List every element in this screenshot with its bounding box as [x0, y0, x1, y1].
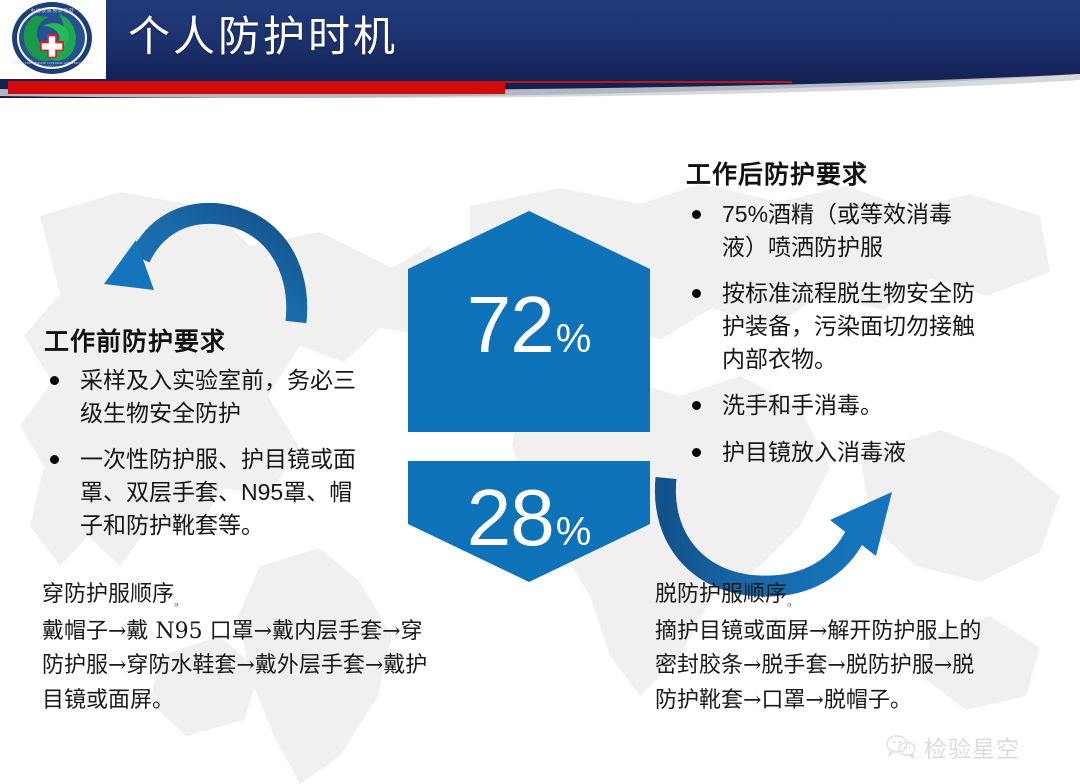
- bullet-text: 一次性防护服、护目镜或面罩、双层手套、N95罩、帽子和防护靴套等。: [80, 446, 356, 537]
- bullet-text: 采样及入实验室前，务必三级生物安全防护: [80, 367, 356, 426]
- percent-bottom-symbol: %: [556, 512, 592, 552]
- bullet-dot-icon: [692, 289, 701, 298]
- list-item: 75%酒精（或等效消毒液）喷洒防护服: [686, 198, 976, 263]
- header-red-rule: [505, 81, 792, 83]
- slide-root: 1934 中 国 疾 病 预 防 控 制 CENTER FOR DISEASE …: [0, 0, 1080, 784]
- bullet-dot-icon: [692, 401, 701, 410]
- left-sequence-title-text: 穿防护服顺序: [42, 582, 174, 607]
- right-sequence-block: 脱防护服顺序ₔ 摘护目镜或面屏→解开防护服上的密封胶条→脱手套→脱防护服→脱防护…: [655, 578, 995, 718]
- curved-arrow-down-left-icon: [96, 196, 326, 324]
- percent-bottom: 28 %: [408, 478, 650, 558]
- left-sequence-title-mark: ₔ: [174, 595, 179, 609]
- bullet-dot-icon: [50, 376, 59, 385]
- list-item: 一次性防护服、护目镜或面罩、双层手套、N95罩、帽子和防护靴套等。: [44, 443, 374, 541]
- right-sequence-title-text: 脱防护服顺序: [655, 582, 787, 607]
- slide-header: 1934 中 国 疾 病 预 防 控 制 CENTER FOR DISEASE …: [0, 0, 1080, 108]
- percent-bottom-value: 28: [467, 478, 554, 558]
- list-item: 护目镜放入消毒液: [686, 436, 976, 469]
- right-sequence-body: 摘护目镜或面屏→解开防护服上的密封胶条→脱手套→脱防护服→脱防护靴套→口罩→脱帽…: [655, 615, 995, 717]
- left-sequence-body: 戴帽子→戴 N95 口罩→戴内层手套→穿防护服→穿防水鞋套→戴外层手套→戴护目镜…: [42, 615, 442, 717]
- bullet-text: 按标准流程脱生物安全防护装备，污染面切勿接触内部衣物。: [722, 280, 975, 371]
- bullet-dot-icon: [692, 448, 701, 457]
- list-item: 洗手和手消毒。: [686, 389, 976, 422]
- watermark: 检验星空: [886, 730, 1020, 764]
- bullet-text: 洗手和手消毒。: [722, 392, 883, 418]
- list-item: 按标准流程脱生物安全防护装备，污染面切勿接触内部衣物。: [686, 277, 976, 375]
- left-sequence-block: 穿防护服顺序ₔ 戴帽子→戴 N95 口罩→戴内层手套→穿防护服→穿防水鞋套→戴外…: [42, 578, 442, 718]
- right-sequence-title: 脱防护服顺序ₔ: [655, 578, 995, 611]
- bullet-text: 护目镜放入消毒液: [722, 439, 906, 465]
- wechat-icon: [886, 735, 916, 759]
- svg-text:中 国 疾 病 预 防 控 制: 中 国 疾 病 预 防 控 制: [31, 7, 74, 14]
- institution-emblem-icon: 1934 中 国 疾 病 预 防 控 制 CENTER FOR DISEASE …: [7, 2, 97, 78]
- right-heading: 工作后防护要求: [686, 155, 868, 191]
- logo-plate: 1934 中 国 疾 病 预 防 控 制 CENTER FOR DISEASE …: [0, 0, 106, 79]
- left-bullet-list: 采样及入实验室前，务必三级生物安全防护 一次性防护服、护目镜或面罩、双层手套、N…: [44, 364, 374, 555]
- header-red-bar: [8, 81, 505, 94]
- page-title: 个人防护时机: [128, 3, 398, 64]
- svg-text:CENTER FOR DISEASE CONTROL AND: CENTER FOR DISEASE CONTROL AND PREVENTIO…: [11, 61, 94, 65]
- list-item: 采样及入实验室前，务必三级生物安全防护: [44, 364, 374, 429]
- percent-top-symbol: %: [556, 319, 592, 359]
- right-bullet-list: 75%酒精（或等效消毒液）喷洒防护服 按标准流程脱生物安全防护装备，污染面切勿接…: [686, 198, 976, 483]
- left-sequence-title: 穿防护服顺序ₔ: [42, 578, 442, 611]
- bullet-dot-icon: [692, 210, 701, 219]
- watermark-text: 检验星空: [924, 730, 1020, 764]
- percent-top-value: 72: [467, 285, 554, 365]
- right-sequence-title-mark: ₔ: [787, 595, 792, 609]
- percent-top: 72 %: [408, 285, 650, 365]
- svg-text:1934: 1934: [47, 66, 58, 71]
- bullet-text: 75%酒精（或等效消毒液）喷洒防护服: [722, 201, 952, 260]
- left-heading: 工作前防护要求: [44, 322, 226, 358]
- bullet-dot-icon: [50, 455, 59, 464]
